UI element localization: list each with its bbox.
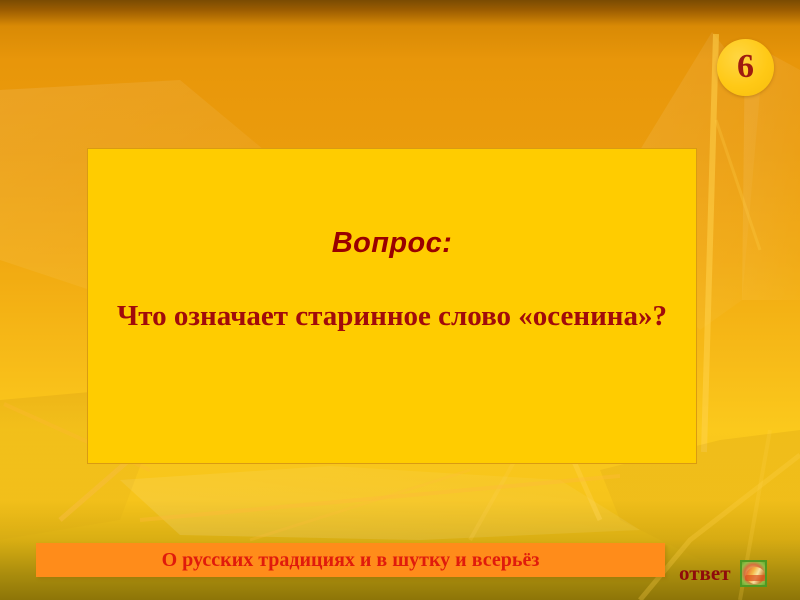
answer-thumbnail-icon[interactable] bbox=[740, 560, 767, 587]
question-label: Вопрос: bbox=[332, 227, 452, 260]
question-text: Что означает старинное слово «осенина»? bbox=[112, 298, 672, 335]
question-panel: Вопрос: Что означает старинное слово «ос… bbox=[87, 148, 697, 464]
category-bar: О русских традициях и в шутку и всерьёз bbox=[36, 543, 665, 577]
question-number-value: 6 bbox=[737, 50, 754, 84]
quiz-slide: 6 Вопрос: Что означает старинное слово «… bbox=[0, 0, 800, 600]
category-label: О русских традициях и в шутку и всерьёз bbox=[162, 549, 540, 572]
question-number-badge: 6 bbox=[717, 39, 774, 96]
answer-label[interactable]: ответ bbox=[679, 563, 731, 584]
answer-button[interactable]: ответ bbox=[679, 560, 767, 587]
